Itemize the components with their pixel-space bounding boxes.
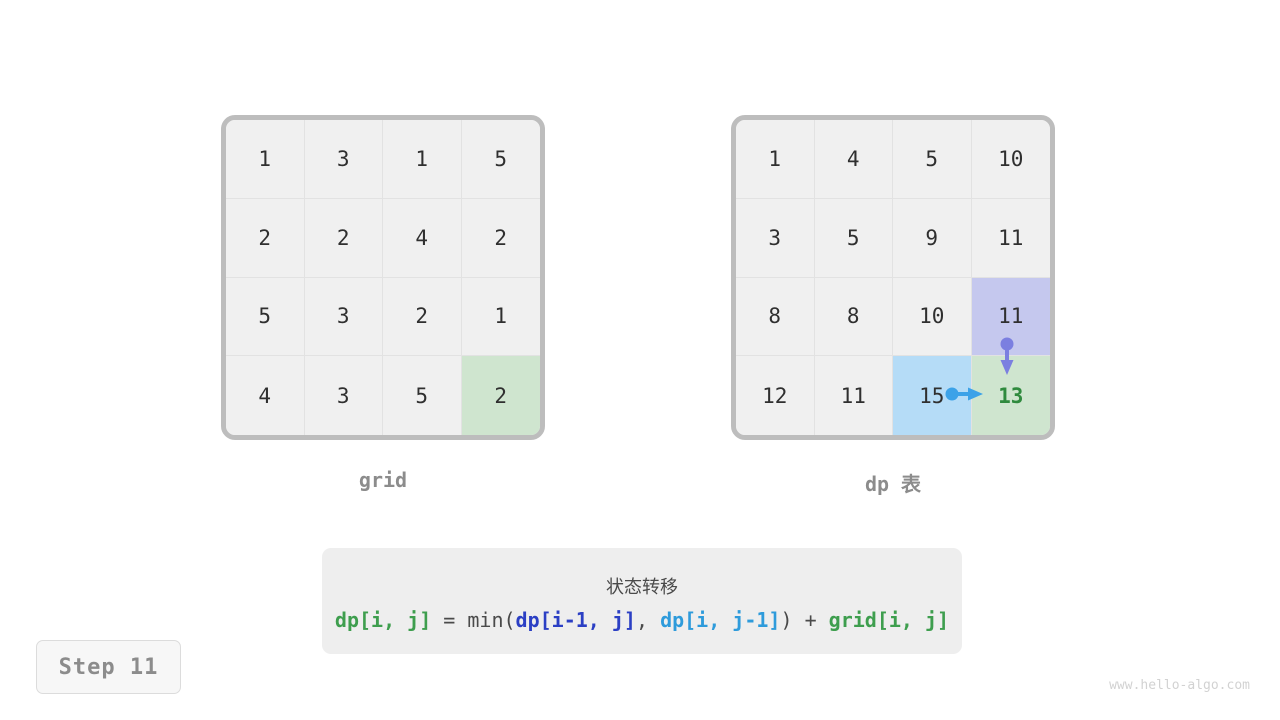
watermark: www.hello-algo.com xyxy=(1109,678,1250,693)
dp-cell-0-3: 10 xyxy=(972,120,1051,199)
step-badge: Step 11 xyxy=(36,640,181,694)
dp-cell-3-3-result: 13 xyxy=(972,356,1051,435)
grid-cell-2-0: 5 xyxy=(226,278,305,357)
dp-cell-1-1: 5 xyxy=(815,199,894,278)
grid-cell-0-1: 3 xyxy=(305,120,384,199)
grid-cell-0-3: 5 xyxy=(462,120,541,199)
dp-caption: dp 表 xyxy=(731,468,1055,497)
grid-cell-0-0: 1 xyxy=(226,120,305,199)
grid-cell-0-2: 1 xyxy=(383,120,462,199)
dp-cell-2-1: 8 xyxy=(815,278,894,357)
dp-cell-3-0: 12 xyxy=(736,356,815,435)
dp-cell-1-0: 3 xyxy=(736,199,815,278)
grid-cell-1-1: 2 xyxy=(305,199,384,278)
formula-token-dp-im1-j: dp[i-1, j] xyxy=(516,608,636,632)
formula-token-comma: , xyxy=(636,608,660,632)
grid-cell-2-1: 3 xyxy=(305,278,384,357)
grid-cell-2-2: 2 xyxy=(383,278,462,357)
dp-cell-2-2: 10 xyxy=(893,278,972,357)
grid-cell-1-2: 4 xyxy=(383,199,462,278)
state-transition-title: 状态转移 xyxy=(606,573,678,599)
dp-matrix: 1 4 5 10 3 5 9 11 8 8 10 11 12 11 15 13 xyxy=(731,115,1055,440)
dp-cell-2-0: 8 xyxy=(736,278,815,357)
formula-token-grid-ij: grid[i, j] xyxy=(829,608,949,632)
dp-cell-0-0: 1 xyxy=(736,120,815,199)
formula-token-dp-ij: dp[i, j] xyxy=(335,608,431,632)
grid-cell-2-3: 1 xyxy=(462,278,541,357)
dp-cell-2-3-highlight-purple: 11 xyxy=(972,278,1051,357)
grid-cell-3-2: 5 xyxy=(383,356,462,435)
dp-cell-1-2: 9 xyxy=(893,199,972,278)
grid-cell-1-0: 2 xyxy=(226,199,305,278)
formula-token-dp-i-jm1: dp[i, j-1] xyxy=(660,608,780,632)
dp-cell-0-1: 4 xyxy=(815,120,894,199)
dp-cell-1-3: 11 xyxy=(972,199,1051,278)
dp-cell-3-2-highlight-blue: 15 xyxy=(893,356,972,435)
grid-cell-3-0: 4 xyxy=(226,356,305,435)
formula-token-min-open: = min( xyxy=(431,608,515,632)
grid-caption: grid xyxy=(221,468,545,492)
state-transition-formula: dp[i, j] = min(dp[i-1, j], dp[i, j-1]) +… xyxy=(335,610,949,630)
formula-token-close-plus: ) + xyxy=(780,608,828,632)
grid-cell-3-1: 3 xyxy=(305,356,384,435)
grid-matrix: 1 3 1 5 2 2 4 2 5 3 2 1 4 3 5 2 xyxy=(221,115,545,440)
state-transition-panel: 状态转移 dp[i, j] = min(dp[i-1, j], dp[i, j-… xyxy=(322,548,962,654)
grid-cell-1-3: 2 xyxy=(462,199,541,278)
grid-cell-3-3-highlight: 2 xyxy=(462,356,541,435)
dp-cell-0-2: 5 xyxy=(893,120,972,199)
dp-cell-3-1: 11 xyxy=(815,356,894,435)
